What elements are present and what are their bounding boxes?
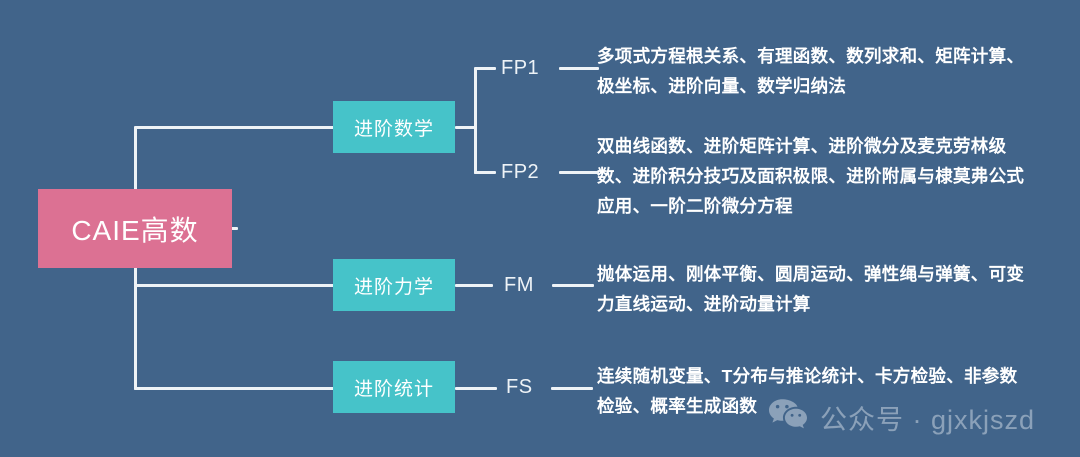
mindmap-canvas: CAIE高数 进阶数学 进阶力学 进阶统计 FP1 FP2 FM FS 多项式方…: [0, 0, 1080, 457]
leaf-code-fp2: FP2: [501, 161, 539, 184]
fp1-to-description-line: [559, 67, 599, 70]
mechanics-to-fm-line: [455, 284, 493, 287]
fp2-to-description-line: [559, 171, 599, 174]
math-fork-to-fp2: [474, 171, 496, 174]
description-fp1: 多项式方程根关系、有理函数、数列求和、矩阵计算、极坐标、进阶向量、数学归纳法: [597, 41, 1029, 101]
branch-node-label: 进阶数学: [354, 114, 434, 141]
statistics-to-fs-line: [455, 387, 497, 390]
fs-to-description-line: [551, 387, 593, 390]
root-node-label: CAIE高数: [71, 209, 198, 249]
math-fork-to-fp1: [474, 67, 496, 70]
branch-line-statistics: [134, 387, 334, 390]
leaf-code-fp1: FP1: [501, 57, 539, 80]
leaf-code-fs: FS: [506, 376, 533, 399]
math-fork-vertical: [474, 68, 477, 174]
watermark: 公众号 · gjxkjszd: [768, 398, 1035, 437]
branch-line-mechanics: [134, 284, 334, 287]
watermark-text: 公众号 · gjxkjszd: [820, 398, 1035, 437]
branch-node-advanced-math[interactable]: 进阶数学: [333, 101, 455, 153]
branch-node-advanced-statistics[interactable]: 进阶统计: [333, 361, 455, 413]
branch-node-label: 进阶力学: [354, 272, 434, 299]
branch-node-label: 进阶统计: [354, 374, 434, 401]
root-node-caie-advanced-math[interactable]: CAIE高数: [38, 189, 232, 268]
leaf-code-fm: FM: [504, 274, 534, 297]
fm-to-description-line: [552, 284, 594, 287]
description-fm: 抛体运用、刚体平衡、圆周运动、弹性绳与弹簧、可变力直线运动、进阶动量计算: [597, 259, 1027, 319]
description-fp2: 双曲线函数、进阶矩阵计算、进阶微分及麦克劳林级数、进阶积分技巧及面积极限、进阶附…: [597, 131, 1033, 221]
branch-node-advanced-mechanics[interactable]: 进阶力学: [333, 259, 455, 311]
branch-line-math: [134, 126, 334, 129]
wechat-icon: [768, 398, 808, 437]
